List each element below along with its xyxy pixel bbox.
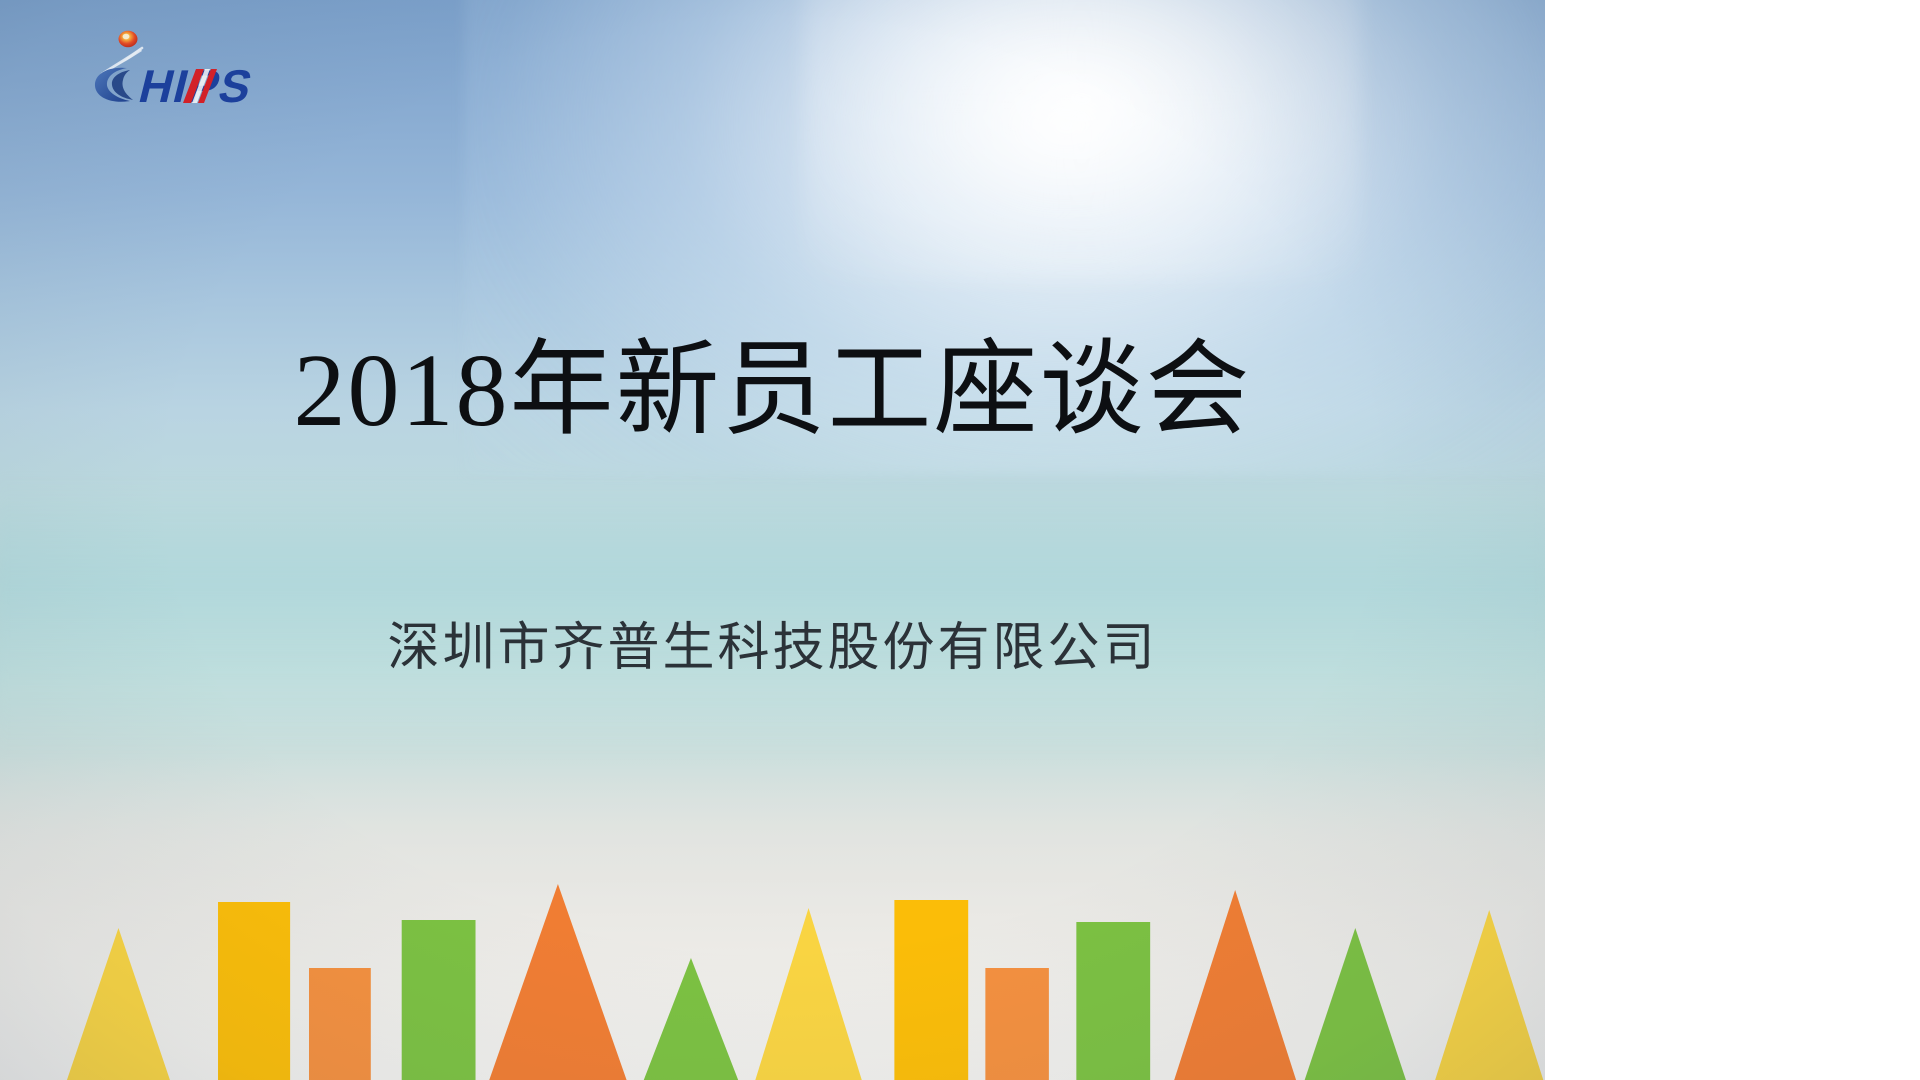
decor-bar xyxy=(1076,922,1150,1080)
decor-bar xyxy=(309,968,371,1080)
decor-bar xyxy=(894,900,968,1080)
page-title: 2018年新员工座谈会 xyxy=(0,330,1545,453)
decor-triangle xyxy=(1435,910,1543,1080)
page-subtitle: 深圳市齐普生科技股份有限公司 xyxy=(0,618,1545,680)
hips-logo[interactable]: HIPS xyxy=(78,24,288,108)
logo-orbit-dot-icon xyxy=(119,31,138,47)
decor-triangle xyxy=(1174,890,1296,1080)
decor-triangle xyxy=(1305,928,1406,1080)
decor-bar xyxy=(218,902,290,1080)
sun-glow-core xyxy=(803,0,1359,281)
decor-bar xyxy=(985,968,1049,1080)
horizon-haze xyxy=(0,475,1545,756)
decorative-shape-strip xyxy=(0,850,1545,1080)
decor-triangle xyxy=(755,908,861,1080)
decor-triangle xyxy=(67,928,170,1080)
decor-triangle xyxy=(489,884,626,1080)
decor-triangle xyxy=(644,958,738,1080)
decor-bar xyxy=(402,920,476,1080)
presentation-slide: HIPS 2018年新员工座谈会 深圳市齐普生科技股份有限公司 xyxy=(0,0,1545,1080)
